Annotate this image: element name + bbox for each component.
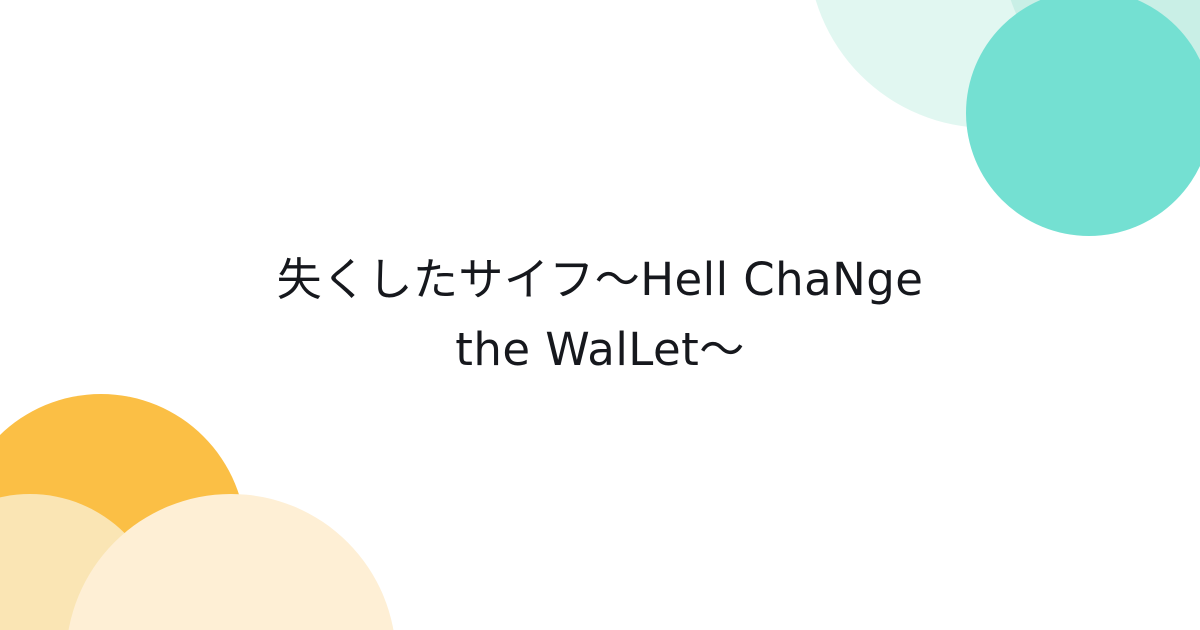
title-container: 失くしたサイフ〜Hell ChaNge the WalLet〜 xyxy=(0,0,1200,630)
ogp-card: 失くしたサイフ〜Hell ChaNge the WalLet〜 xyxy=(0,0,1200,630)
page-title: 失くしたサイフ〜Hell ChaNge the WalLet〜 xyxy=(250,245,950,385)
